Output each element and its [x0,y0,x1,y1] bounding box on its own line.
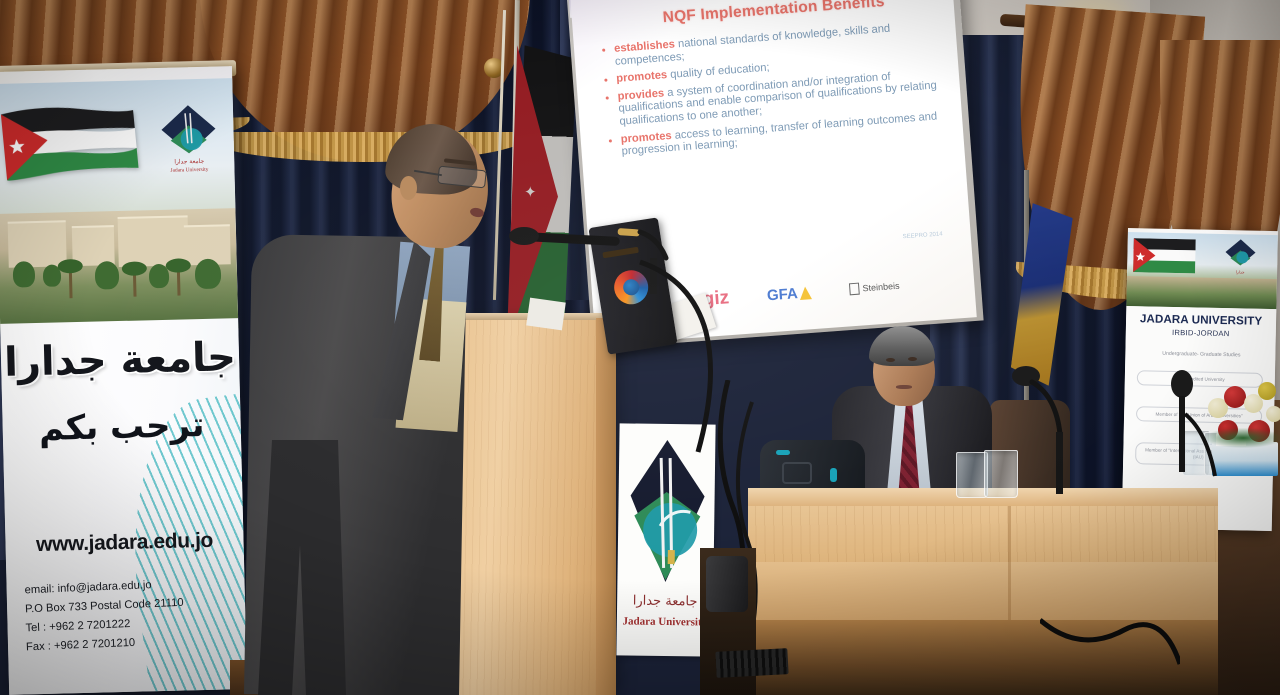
slide-bullet-rest: quality of education; [667,62,770,81]
banner-left: جامعة جدارا Jadara University جامع [0,66,247,695]
gfa-logo: GFA [766,284,812,304]
equipment-box [706,556,748,612]
jadara-logo-icon-podium [623,433,709,594]
jadara-logo-icon: جامعة جدارا Jadara University [157,103,221,176]
podium-plaque-english: Jadara University [617,615,713,628]
floor-cable [1040,600,1180,695]
jadara-logo-icon-small: جدارا [1223,238,1258,277]
slide-credit: SEEPRO 2014 [902,231,942,240]
podium-cable [636,256,756,456]
speaker-ear [400,176,417,200]
banner-left-campus-photo [0,208,238,334]
slide-bullet-lead: promotes [616,69,668,85]
gfa-triangle-icon [799,286,812,300]
speaker-legs [236,440,356,695]
steinbeis-logo: Steinbeis [849,280,900,296]
banner-right-campus-strip [1126,276,1277,309]
banner-left-subline-arabic: ترحب بكم [2,404,241,450]
seated-man-eye-right [908,357,917,361]
slide-bullet-list: establishes national standards of knowle… [596,19,954,165]
table-microphone-right [1000,360,1090,500]
svg-text:Jadara University: Jadara University [170,167,208,174]
conference-photo-scene: ✦ NQF Implementation Benefits establishe… [0,0,1280,695]
papers-on-podium [526,298,566,331]
keyboard [715,648,788,678]
table-microphone-center [1148,368,1218,498]
svg-text:جامعة جدارا: جامعة جدارا [174,158,204,166]
banner-right-photo: جدارا [1126,232,1278,309]
steinbeis-box-icon [849,283,860,296]
jordan-flag-icon [0,96,139,186]
jordan-flag-star: ✦ [524,183,537,201]
banner-left-contact-block: email: info@jadara.edu.jo P.O Box 733 Po… [24,576,236,657]
seated-man-mouth [896,385,912,389]
podium-right-edge [596,318,616,695]
banner-left-photo: جامعة جدارا Jadara University [0,78,238,334]
svg-text:جدارا: جدارا [1236,269,1245,274]
seated-man-hair [869,326,935,366]
head-table-seam [1008,506,1011,626]
podium-plaque-arabic: جامعة جدارا [617,593,713,609]
banner-left-headline-arabic: جامعة جدارا [1,334,240,386]
jordan-flag-icon-small [1133,238,1196,273]
seated-man-eye-left [886,358,895,362]
